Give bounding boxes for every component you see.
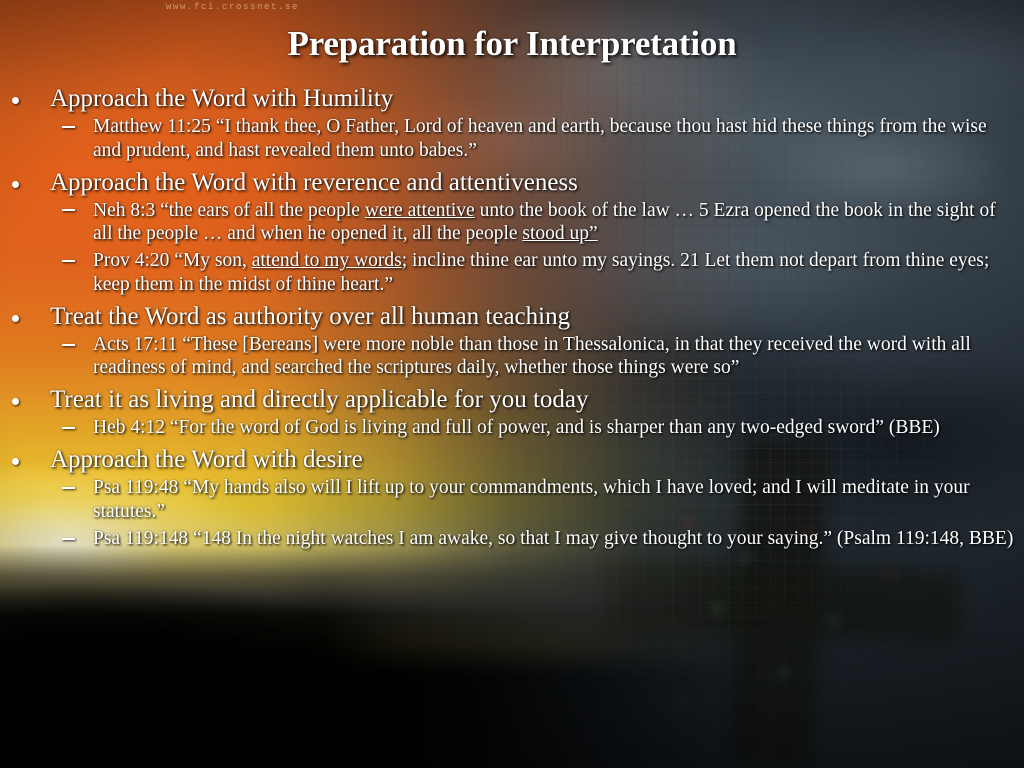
bullet-level1-label: Treat it as living and directly applicab… xyxy=(50,386,589,413)
source-watermark: www.fci.crossnet.se xyxy=(166,2,299,12)
bullet-level2: Prov 4:20 “My son, attend to my words; i… xyxy=(0,249,1014,297)
bullet-group: Approach the Word with desirePsa 119:48 … xyxy=(0,445,1014,550)
bullet-dash-icon xyxy=(62,209,75,211)
bullet-level2: Heb 4:12 “For the word of God is living … xyxy=(0,416,1014,440)
emphasised-phrase: stood up” xyxy=(522,223,597,244)
bullet-level2: Matthew 11:25 “I thank thee, O Father, L… xyxy=(0,115,1014,163)
bullet-level1-label: Approach the Word with desire xyxy=(50,446,363,473)
bullet-group: Treat it as living and directly applicab… xyxy=(0,385,1014,440)
bullet-level1: Approach the Word with reverence and att… xyxy=(0,168,1014,197)
bullet-dash-icon xyxy=(62,487,75,489)
scripture-text: Neh 8:3 “the ears of all the people xyxy=(93,200,365,221)
bullet-group: Treat the Word as authority over all hum… xyxy=(0,302,1014,381)
emphasised-phrase: were attentive xyxy=(365,200,475,221)
bullet-dash-icon xyxy=(62,260,75,262)
emphasised-phrase: attend to my words xyxy=(252,250,402,271)
bullet-dash-icon xyxy=(62,344,75,346)
bullet-level2-label: Prov 4:20 “My son, attend to my words; i… xyxy=(93,250,989,295)
bullet-group: Approach the Word with HumilityMatthew 1… xyxy=(0,84,1014,163)
bullet-level2: Psa 119:48 “My hands also will I lift up… xyxy=(0,476,1014,524)
bullet-level2-label: Neh 8:3 “the ears of all the people were… xyxy=(93,200,996,245)
bullet-level2-label: Acts 17:11 “These [Bereans] were more no… xyxy=(93,334,971,379)
bullet-dash-icon xyxy=(62,538,75,540)
bullet-level1-label: Treat the Word as authority over all hum… xyxy=(50,303,570,330)
bullet-dot-icon xyxy=(12,315,19,322)
presentation-slide: message www.fci.crossnet.se Preparation … xyxy=(0,0,1024,768)
bullet-level2: Acts 17:11 “These [Bereans] were more no… xyxy=(0,333,1014,381)
slide-body: Approach the Word with HumilityMatthew 1… xyxy=(0,84,1014,555)
scripture-text: Psa 119:48 “My hands also will I lift up… xyxy=(93,477,970,522)
bullet-level2-label: Psa 119:148 “148 In the night watches I … xyxy=(93,528,1013,549)
slide-title: Preparation for Interpretation xyxy=(0,24,1024,64)
bullet-group: Approach the Word with reverence and att… xyxy=(0,168,1014,297)
bullet-level2: Psa 119:148 “148 In the night watches I … xyxy=(0,527,1014,551)
bullet-level2-label: Psa 119:48 “My hands also will I lift up… xyxy=(93,477,970,522)
bullet-level1: Approach the Word with Humility xyxy=(0,84,1014,113)
bullet-dot-icon xyxy=(12,97,19,104)
scripture-text: Heb 4:12 “For the word of God is living … xyxy=(93,417,940,438)
bullet-dash-icon xyxy=(62,126,75,128)
bullet-level1: Treat the Word as authority over all hum… xyxy=(0,302,1014,331)
bullet-dot-icon xyxy=(12,181,19,188)
bullet-level1-label: Approach the Word with Humility xyxy=(50,85,393,112)
bullet-level1: Treat it as living and directly applicab… xyxy=(0,385,1014,414)
bullet-level2-label: Matthew 11:25 “I thank thee, O Father, L… xyxy=(93,116,987,161)
scripture-text: Matthew 11:25 “I thank thee, O Father, L… xyxy=(93,116,987,161)
scripture-text: Psa 119:148 “148 In the night watches I … xyxy=(93,528,1013,549)
bullet-dot-icon xyxy=(12,398,19,405)
bullet-level2-label: Heb 4:12 “For the word of God is living … xyxy=(93,417,940,438)
scripture-text: Acts 17:11 “These [Bereans] were more no… xyxy=(93,334,971,379)
bullet-dash-icon xyxy=(62,427,75,429)
bullet-dot-icon xyxy=(12,458,19,465)
bullet-level2: Neh 8:3 “the ears of all the people were… xyxy=(0,199,1014,247)
bullet-level1-label: Approach the Word with reverence and att… xyxy=(50,169,578,196)
scripture-text: Prov 4:20 “My son, xyxy=(93,250,252,271)
bullet-level1: Approach the Word with desire xyxy=(0,445,1014,474)
